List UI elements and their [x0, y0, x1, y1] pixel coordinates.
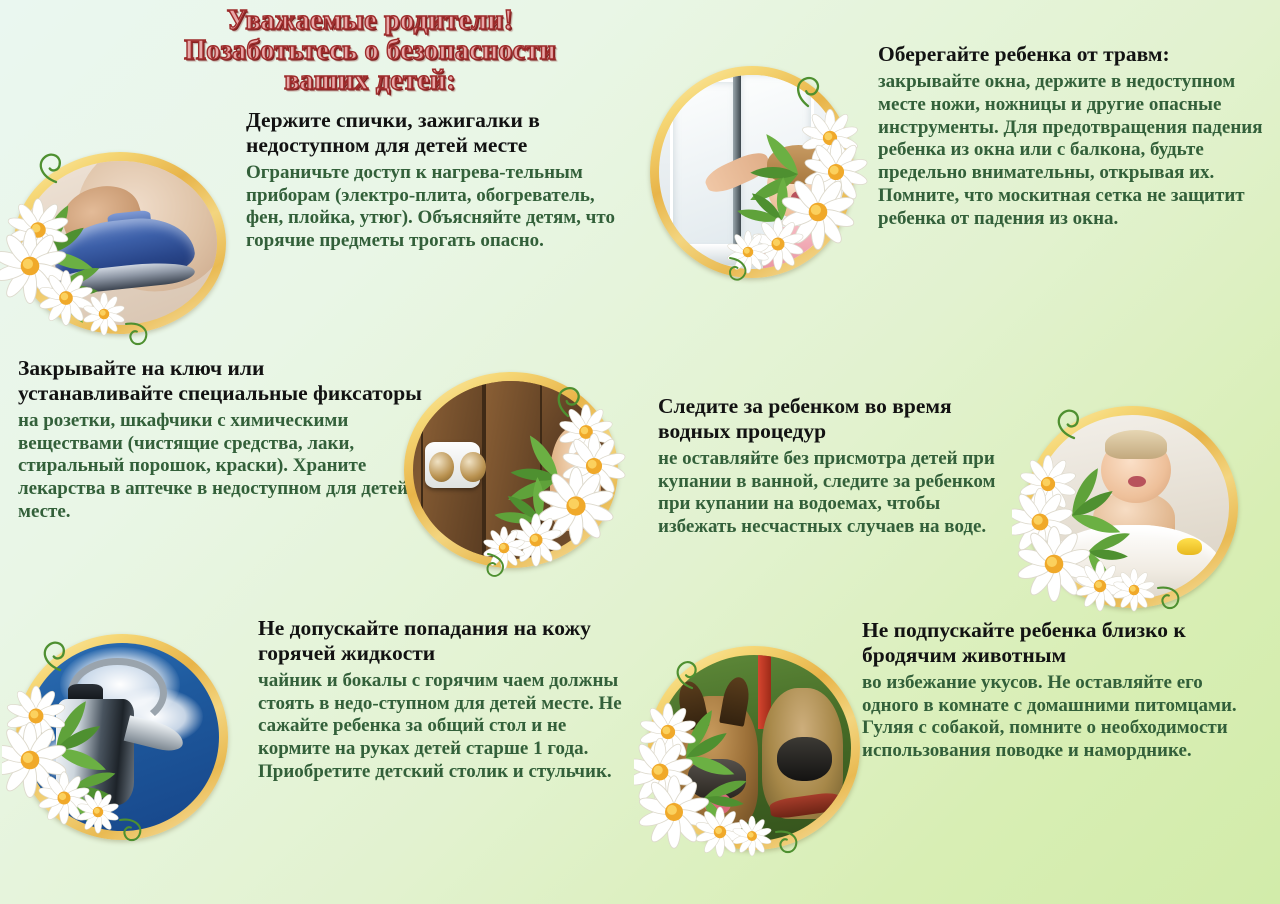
- photo-toddler-at-window: [659, 75, 845, 269]
- title-line-1: Уважаемые родители!: [100, 6, 640, 36]
- section-locks-body: на розетки, шкафчики с химическими вещес…: [18, 410, 422, 524]
- section-locks-heading: Закрывайте на ключ или устанавливайте сп…: [18, 356, 422, 406]
- photo-baby-bathing: [1035, 415, 1229, 599]
- section-water-body: не оставляйте без присмотра детей при ку…: [658, 448, 1018, 539]
- section-water: Следите за ребенком во время водных проц…: [658, 394, 1018, 539]
- photo-cabinet-lock: [413, 381, 609, 559]
- photo-frame-matches: [14, 152, 226, 334]
- section-matches: Держите спички, зажигалки в недоступном …: [246, 108, 634, 253]
- title-line-2: Позаботьтесь о безопасности: [100, 36, 640, 66]
- section-water-heading: Следите за ребенком во время водных проц…: [658, 394, 1018, 444]
- section-hot-liquid-heading: Не допускайте попадания на кожу горячей …: [258, 616, 636, 666]
- section-injuries: Оберегайте ребенка от травм: закрывайте …: [878, 42, 1270, 231]
- section-locks: Закрывайте на ключ или устанавливайте сп…: [18, 356, 422, 524]
- photo-frame-hot-liquid: [16, 634, 228, 840]
- section-animals-body: во избежание укусов. Не оставляйте его о…: [862, 672, 1262, 763]
- section-injuries-body: закрывайте окна, держите в недоступном м…: [878, 71, 1270, 231]
- section-matches-heading: Держите спички, зажигалки в недоступном …: [246, 108, 634, 158]
- photo-steaming-kettle: [25, 643, 219, 831]
- title-line-3: ваших детей:: [100, 66, 640, 96]
- photo-frame-water: [1026, 406, 1238, 608]
- section-hot-liquid-body: чайник и бокалы с горячим чаем должны ст…: [258, 670, 636, 784]
- section-injuries-heading: Оберегайте ребенка от травм:: [878, 42, 1270, 67]
- photo-woman-ironing: [23, 161, 217, 325]
- section-hot-liquid: Не допускайте попадания на кожу горячей …: [258, 616, 636, 784]
- section-animals: Не подпускайте ребенка близко к бродячим…: [862, 618, 1262, 763]
- section-animals-heading: Не подпускайте ребенка близко к бродячим…: [862, 618, 1262, 668]
- photo-frame-animals: [648, 646, 860, 850]
- photo-muzzled-dogs: [657, 655, 851, 841]
- page-title: Уважаемые родители! Позаботьтесь о безоп…: [100, 6, 640, 97]
- section-matches-body: Ограничьте доступ к нагрева-тельным приб…: [246, 162, 634, 253]
- safety-poster: Уважаемые родители! Позаботьтесь о безоп…: [0, 0, 1280, 904]
- photo-frame-injuries: [650, 66, 854, 278]
- photo-frame-locks: [404, 372, 618, 568]
